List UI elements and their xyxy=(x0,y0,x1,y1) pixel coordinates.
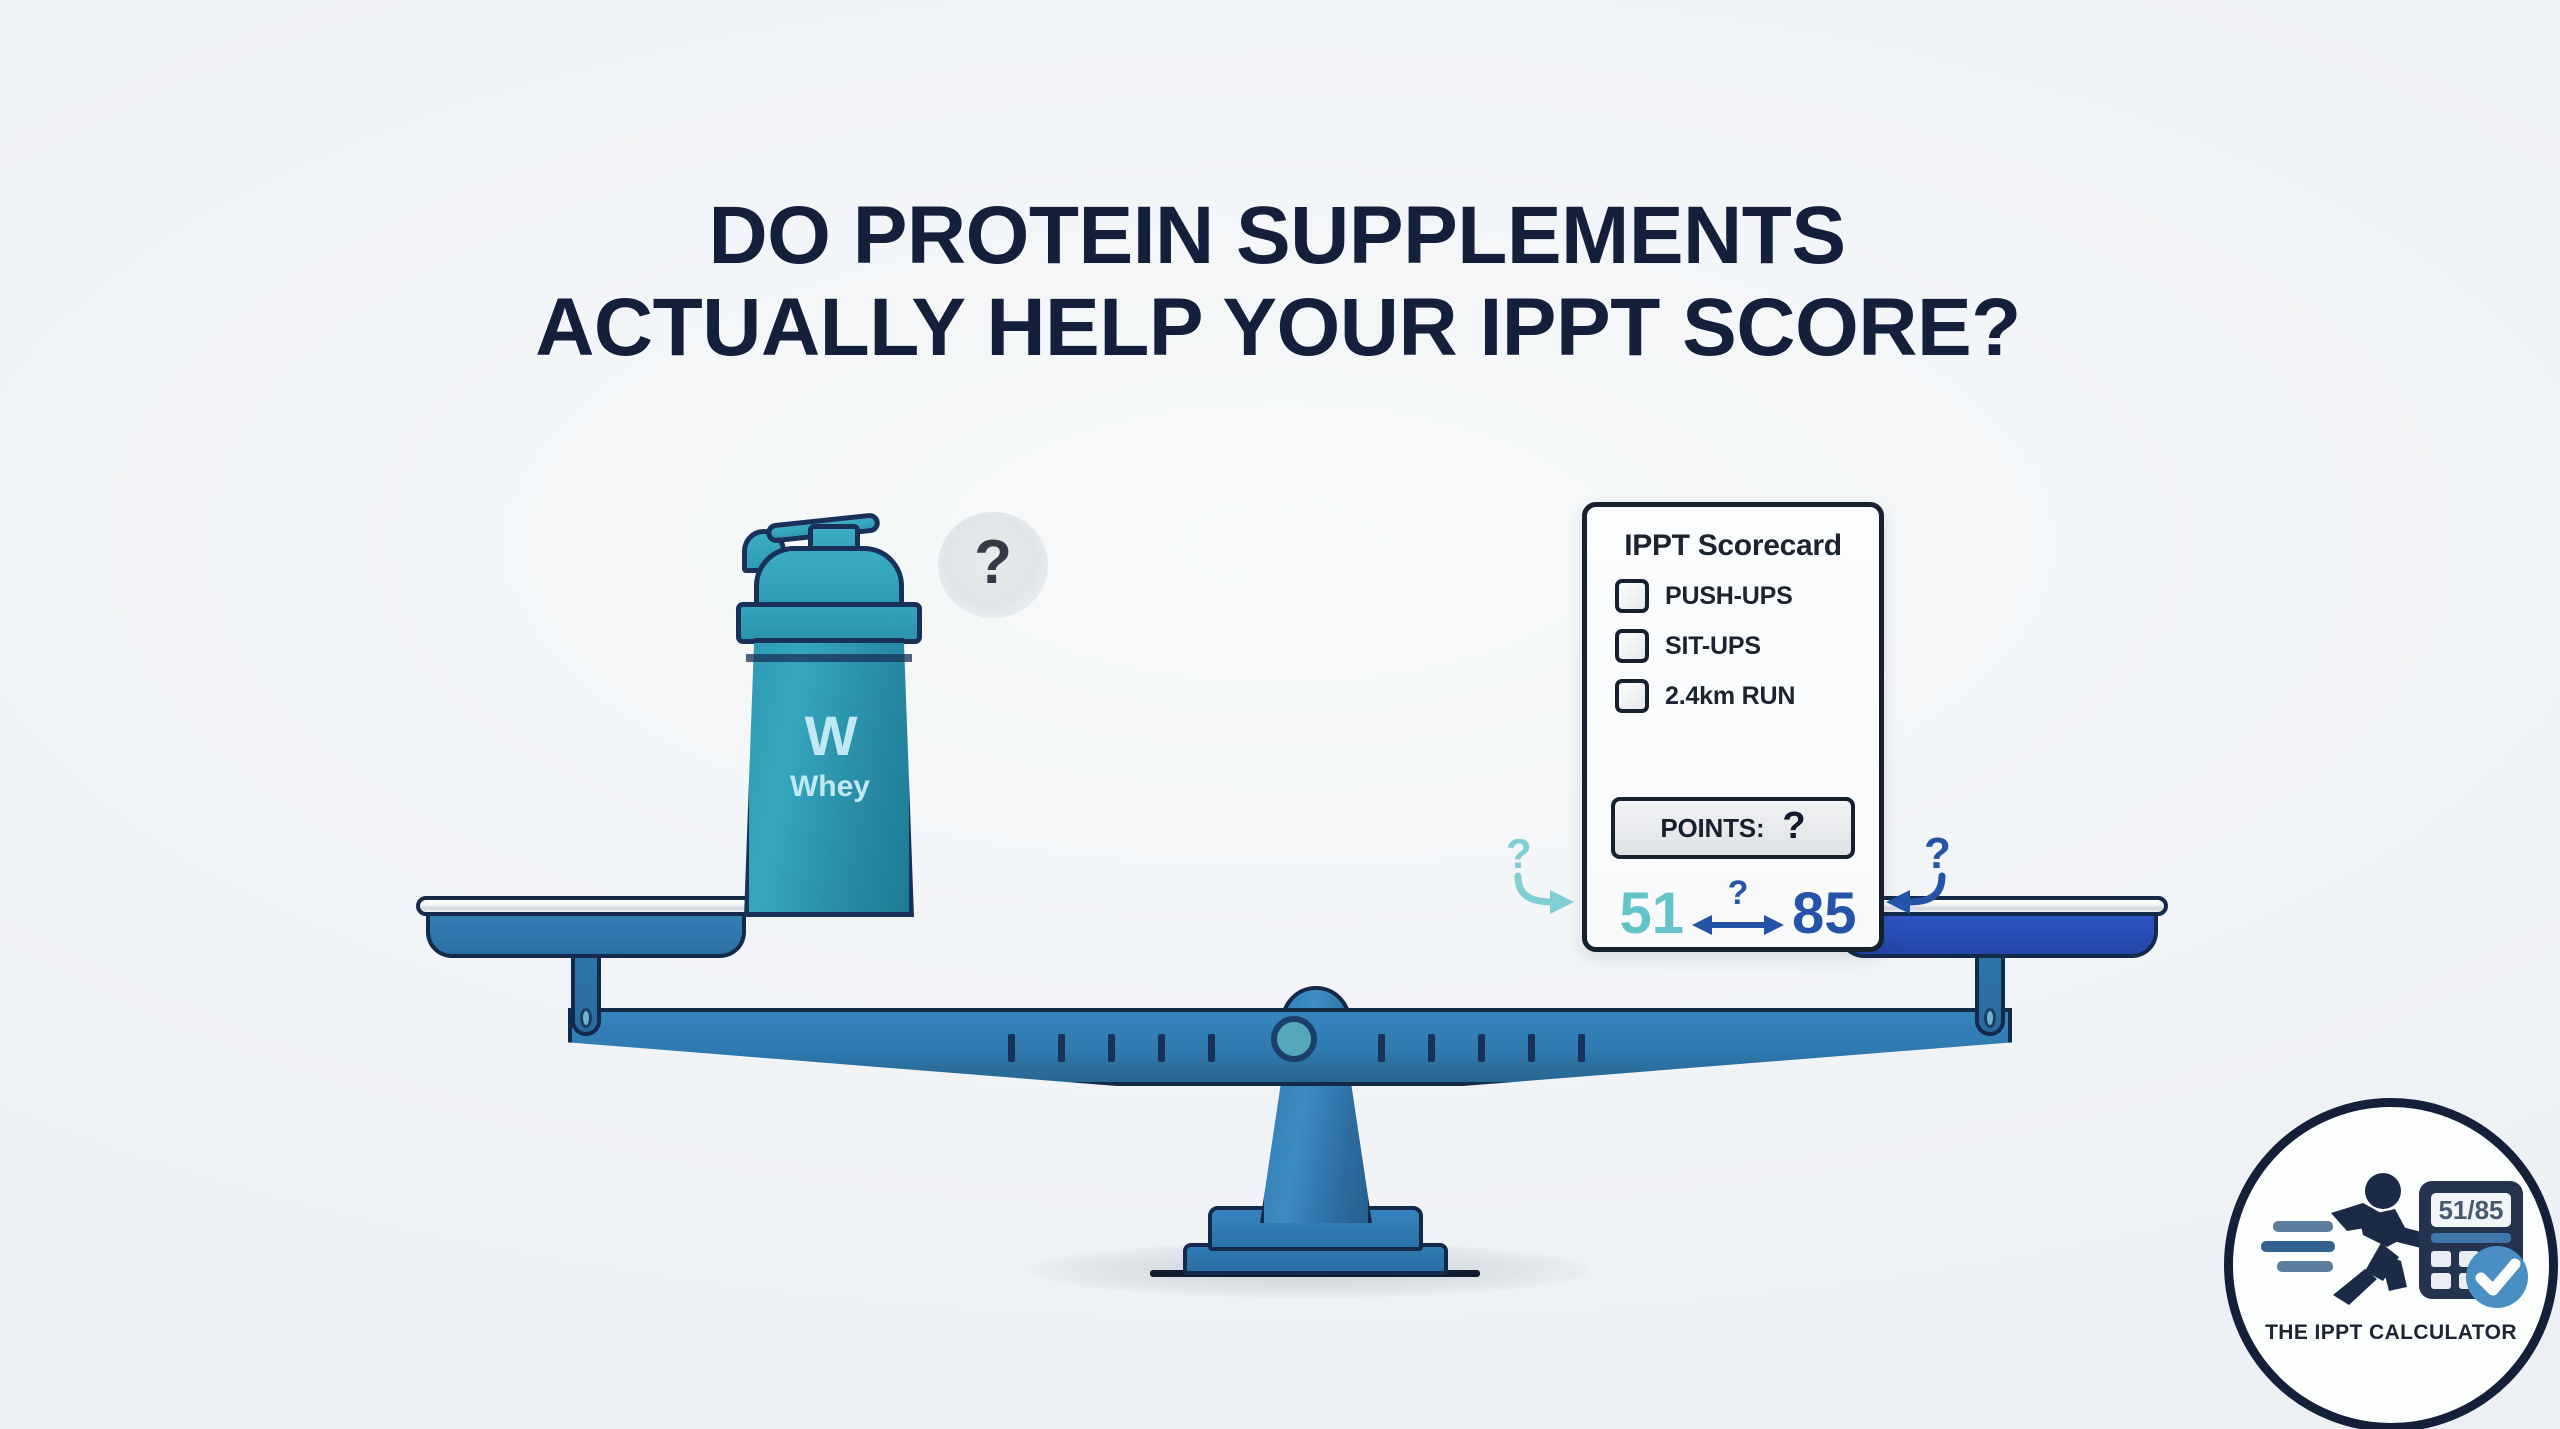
balance-scale xyxy=(560,890,2020,1330)
checkbox-label-pushups: PUSH-UPS xyxy=(1665,582,1793,611)
double-arrow-icon xyxy=(1690,910,1786,940)
points-value: ? xyxy=(1782,807,1805,845)
title-line-1: DO PROTEIN SUPPLEMENTS xyxy=(0,190,2560,282)
beam-tick xyxy=(1108,1034,1115,1062)
beam-tick xyxy=(1578,1034,1585,1062)
beam-tick xyxy=(1058,1034,1065,1062)
hanger-eye xyxy=(580,1008,592,1028)
beam-tick xyxy=(1428,1034,1435,1062)
checkbox-label-situps: SIT-UPS xyxy=(1665,632,1761,661)
beam-tick xyxy=(1378,1034,1385,1062)
beam-tick xyxy=(1208,1034,1215,1062)
speed-lines-icon xyxy=(2261,1221,2335,1272)
beam-tick xyxy=(1158,1034,1165,1062)
ippt-scorecard: IPPT Scorecard PUSH-UPS SIT-UPS 2.4km RU… xyxy=(1582,502,1884,952)
right-question-arrow-icon: ? xyxy=(1876,828,1964,920)
score-high-value: 85 xyxy=(1792,885,1857,943)
pan-bowl xyxy=(426,910,746,958)
scorecard-row-situps[interactable]: SIT-UPS xyxy=(1615,629,1879,663)
logo-caption: THE IPPT CALCULATOR xyxy=(2233,1321,2549,1345)
score-delta-arrow: ? xyxy=(1690,882,1786,946)
beam-tick xyxy=(1008,1034,1015,1062)
calculator-display: 51/85 xyxy=(2438,1195,2503,1225)
question-mark-badge: ? xyxy=(938,512,1048,618)
checkbox-situps[interactable] xyxy=(1615,629,1649,663)
svg-text:?: ? xyxy=(1924,829,1951,878)
question-mark-icon: ? xyxy=(974,532,1012,594)
scorecard-row-pushups[interactable]: PUSH-UPS xyxy=(1615,579,1879,613)
scale-pan-left xyxy=(416,890,756,960)
protein-shaker-bottle: W Whey xyxy=(730,512,930,917)
pan-rim xyxy=(416,896,756,916)
points-box: POINTS: ? xyxy=(1611,797,1855,859)
svg-text:?: ? xyxy=(1506,832,1532,877)
beam-tick xyxy=(1528,1034,1535,1062)
score-comparison-row: 51 ? 85 xyxy=(1587,879,1889,949)
hanger-eye xyxy=(1984,1008,1996,1028)
score-delta-question-icon: ? xyxy=(1728,876,1749,910)
shaker-body xyxy=(744,638,914,917)
points-label: POINTS: xyxy=(1660,813,1764,844)
shaker-shoulder xyxy=(754,546,904,610)
checkbox-pushups[interactable] xyxy=(1615,579,1649,613)
left-question-arrow-icon: ? xyxy=(1500,832,1588,924)
logo-artwork: 51/85 xyxy=(2259,1165,2539,1315)
checkbox-run[interactable] xyxy=(1615,679,1649,713)
scale-pivot xyxy=(1271,1016,1317,1062)
scorecard-row-run[interactable]: 2.4km RUN xyxy=(1615,679,1879,713)
brand-logo-badge[interactable]: 51/85 THE IPPT CALCULATOR xyxy=(2224,1098,2558,1429)
page-title: DO PROTEIN SUPPLEMENTS ACTUALLY HELP YOU… xyxy=(0,190,2560,374)
score-low-value: 51 xyxy=(1619,885,1684,943)
infographic-canvas: DO PROTEIN SUPPLEMENTS ACTUALLY HELP YOU… xyxy=(0,0,2560,1429)
title-line-2: ACTUALLY HELP YOUR IPPT SCORE? xyxy=(0,282,2560,374)
check-badge-icon xyxy=(2466,1246,2528,1308)
checkbox-label-run: 2.4km RUN xyxy=(1665,682,1795,711)
shaker-collar xyxy=(736,602,922,644)
beam-tick xyxy=(1478,1034,1485,1062)
scorecard-title: IPPT Scorecard xyxy=(1587,529,1879,563)
shaker-band xyxy=(746,654,912,662)
